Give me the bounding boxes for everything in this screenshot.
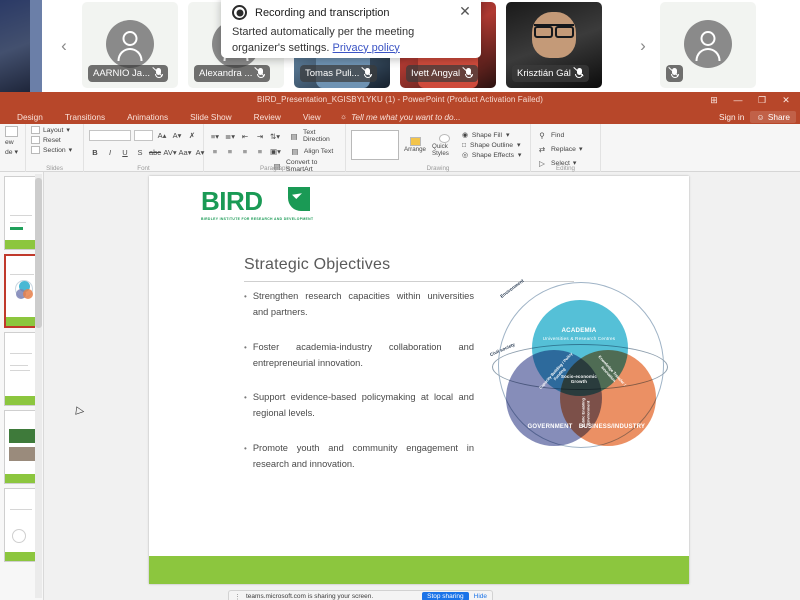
window-controls: ⊞ — ❐ ✕ — [702, 93, 798, 108]
logo-tagline: BIRDLEY INSTITUTE FOR RESEARCH AND DEVEL… — [201, 217, 313, 221]
privacy-policy-link[interactable]: Privacy policy — [333, 42, 400, 54]
ribbon-display-options-button[interactable]: ⊞ — [702, 93, 726, 108]
ribbon-group-slides: Layout▾ Reset Section▾ Slides — [26, 124, 84, 172]
increase-font-size-button[interactable]: A▴ — [156, 129, 168, 141]
avatar — [106, 20, 154, 68]
window-title: BIRD_Presentation_KGISBYLYKU (1) - Power… — [0, 95, 800, 104]
bullets-button[interactable]: ≡▾ — [209, 130, 221, 142]
align-text-button[interactable]: ▤ — [289, 145, 301, 157]
participant-name-chip: Alexandra ... — [194, 65, 270, 82]
bullet-item: • Strengthen research capacities within … — [244, 288, 474, 321]
socio-economic-growth-label: Socio-economic Growth — [558, 374, 600, 385]
screen-root: ‹ › AARNIO Ja... Alexandra ... Tomas Pul… — [0, 0, 800, 600]
academia-label: ACADEMIA Universities & Research Centres — [539, 327, 619, 341]
participant-name-chip — [666, 65, 683, 82]
stop-sharing-button[interactable]: Stop sharing — [422, 592, 469, 600]
title-bar: BIRD_Presentation_KGISBYLYKU (1) - Power… — [0, 92, 800, 109]
sign-in-button[interactable]: Sign in — [719, 112, 744, 122]
search-icon: ⚲ — [536, 129, 548, 141]
shape-outline-button[interactable]: □ Shape Outline ▾ — [462, 141, 521, 149]
bullet-text: Foster academia-industry collaboration a… — [253, 339, 474, 372]
participants-next-button[interactable]: › — [634, 26, 652, 66]
teams-participant-strip: ‹ › AARNIO Ja... Alexandra ... Tomas Pul… — [0, 0, 800, 92]
group-label-paragraph: Paragraph — [204, 165, 345, 172]
participant-name-chip: Tomas Puli... — [300, 65, 377, 82]
overlap-bottom-label: Public Enabling Environment — [581, 390, 590, 436]
bullet-icon: • — [244, 339, 247, 372]
ribbon-tab-bar: Design Transitions Animations Slide Show… — [0, 109, 800, 124]
participant-name-chip: Ivett Angyal — [406, 65, 478, 82]
text-direction-button[interactable]: ▤ — [288, 130, 300, 142]
bullet-icon: • — [244, 389, 247, 422]
bullet-item: • Support evidence-based policymaking at… — [244, 389, 474, 422]
font-family-select[interactable] — [89, 130, 131, 141]
justify-button[interactable]: ≡ — [254, 145, 266, 157]
group-label-font: Font — [84, 165, 203, 172]
participant-name: Alexandra ... — [199, 68, 252, 79]
hide-button[interactable]: Hide — [474, 593, 487, 600]
align-left-button[interactable]: ≡ — [209, 145, 221, 157]
tab-slide-show[interactable]: Slide Show — [179, 112, 243, 122]
record-icon — [232, 5, 247, 20]
participant-name: AARNIO Ja... — [93, 68, 150, 79]
bullet-item: • Promote youth and community engagement… — [244, 440, 474, 473]
tab-view[interactable]: View — [292, 112, 332, 122]
group-label-drawing: Drawing — [346, 165, 530, 172]
teams-self-video — [0, 0, 42, 92]
current-slide[interactable]: BIRD BIRDLEY INSTITUTE FOR RESEARCH AND … — [149, 176, 689, 584]
mic-muted-icon — [575, 68, 584, 79]
person-icon: ☺ — [756, 112, 764, 122]
shadow-button[interactable]: S — [134, 146, 146, 158]
bullet-icon: • — [244, 288, 247, 321]
bullet-text: Support evidence-based policymaking at l… — [253, 389, 474, 422]
slide-thumbnail-4[interactable] — [4, 410, 39, 484]
participant-name-chip: AARNIO Ja... — [88, 65, 168, 82]
section-button[interactable]: Section — [43, 147, 66, 154]
group-label-editing: Editing — [531, 165, 600, 172]
numbering-button[interactable]: ≣▾ — [224, 130, 236, 142]
share-button[interactable]: ☺ Share — [750, 111, 796, 123]
bullet-text: Promote youth and community engagement i… — [253, 440, 474, 473]
tell-me-placeholder: Tell me what you want to do... — [351, 112, 460, 122]
shape-fill-button[interactable]: ◉ Shape Fill ▾ — [462, 131, 521, 139]
mic-muted-icon — [363, 68, 372, 79]
tab-animations[interactable]: Animations — [116, 112, 179, 122]
mic-muted-icon — [256, 68, 265, 79]
line-spacing-button[interactable]: ⇅▾ — [269, 130, 281, 142]
participant-name: Tomas Puli... — [305, 68, 359, 79]
quick-styles-button[interactable]: Quick Styles — [431, 129, 457, 161]
underline-button[interactable]: U — [119, 146, 131, 158]
replace-button[interactable]: Replace — [551, 146, 576, 153]
bullet-icon: • — [244, 440, 247, 473]
quick-styles-label: Quick Styles — [432, 143, 456, 157]
group-label-slides: Slides — [26, 165, 83, 172]
ribbon-group-font: A▴ A▾ ✗ B I U S abc AV▾ Aa▾ A▾ Font — [84, 124, 204, 172]
bird-logo: BIRD BIRDLEY INSTITUTE FOR RESEARCH AND … — [201, 188, 313, 221]
mic-muted-icon — [154, 68, 163, 79]
font-size-select[interactable] — [134, 130, 153, 141]
slides-thumbnail-pane[interactable] — [0, 172, 44, 600]
decrease-indent-button[interactable]: ⇤ — [239, 130, 251, 142]
replace-icon: ⇄ — [536, 143, 548, 155]
avatar — [684, 20, 732, 68]
slide-footer-band — [149, 556, 689, 584]
environment-label: Environment — [499, 278, 524, 299]
close-button[interactable]: ✕ — [774, 93, 798, 108]
drag-handle-icon[interactable]: ⋮ — [234, 593, 241, 600]
slide-bullet-list[interactable]: • Strengthen research capacities within … — [244, 288, 474, 490]
increase-indent-button[interactable]: ⇥ — [254, 130, 266, 142]
ribbon: ew de ▾ Layout▾ Reset Section▾ Slides A▴… — [0, 124, 800, 172]
italic-button[interactable]: I — [104, 146, 116, 158]
slide-thumbnail-1[interactable] — [4, 176, 39, 250]
ribbon-group-paragraph: ≡▾ ≣▾ ⇤ ⇥ ⇅▾ ▤ Text Direction ≡ ≡ ≡ ≡ ▣▾… — [204, 124, 346, 172]
strikethrough-button[interactable]: abc — [149, 146, 161, 158]
mouse-cursor: ▷ — [75, 403, 85, 417]
share-status-text: teams.microsoft.com is sharing your scre… — [246, 593, 417, 600]
shapes-gallery[interactable] — [351, 130, 399, 160]
participant-name: Ivett Angyal — [411, 68, 460, 79]
powerpoint-window: BIRD_Presentation_KGISBYLYKU (1) - Power… — [0, 92, 800, 600]
lightbulb-icon: ☼ — [340, 112, 347, 121]
close-icon[interactable]: ✕ — [458, 5, 472, 19]
slide-title[interactable]: Strategic Objectives — [244, 256, 574, 282]
layout-button[interactable]: Layout — [43, 127, 63, 134]
share-label: Share — [768, 112, 790, 122]
participant-name: Krisztián Gál — [517, 68, 571, 79]
screen-share-bar: ⋮ teams.microsoft.com is sharing your sc… — [228, 590, 493, 600]
arrange-button[interactable]: Arrange — [402, 129, 428, 161]
reset-button[interactable]: Reset — [43, 137, 61, 144]
ribbon-group-drawing: Arrange Quick Styles ◉ Shape Fill ▾ □ Sh… — [346, 124, 531, 172]
restore-button[interactable]: ❐ — [750, 93, 774, 108]
tab-transitions[interactable]: Transitions — [54, 112, 116, 122]
tell-me-search[interactable]: ☼ Tell me what you want to do... — [340, 112, 461, 122]
align-right-button[interactable]: ≡ — [239, 145, 251, 157]
columns-button[interactable]: ▣▾ — [269, 145, 282, 157]
logo-arrow-icon — [288, 187, 310, 211]
tab-design[interactable]: Design — [6, 112, 54, 122]
minimize-button[interactable]: — — [726, 93, 750, 108]
shape-effects-button[interactable]: ◎ Shape Effects ▾ — [462, 151, 521, 159]
participants-prev-button[interactable]: ‹ — [55, 26, 73, 66]
participant-tile[interactable] — [660, 2, 756, 88]
align-text-label[interactable]: Align Text — [304, 148, 333, 155]
mic-muted-icon — [464, 68, 473, 79]
decrease-font-size-button[interactable]: A▾ — [171, 129, 183, 141]
ribbon-group-editing: ⚲Find ⇄Replace▾ ▷Select▾ Editing — [531, 124, 601, 172]
bold-button[interactable]: B — [89, 146, 101, 158]
slide-editing-canvas[interactable]: ▷ BIRD BIRDLEY INSTITUTE FOR RESEARCH AN… — [44, 172, 800, 600]
slides-pane-scrollbar[interactable] — [35, 174, 42, 598]
align-center-button[interactable]: ≡ — [224, 145, 236, 157]
tab-review[interactable]: Review — [243, 112, 292, 122]
bullet-item: • Foster academia-industry collaboration… — [244, 339, 474, 372]
text-direction-label[interactable]: Text Direction — [303, 129, 340, 143]
recording-notification-toast: Recording and transcription ✕ Started au… — [221, 0, 481, 58]
bullet-text: Strengthen research capacities within un… — [253, 288, 474, 321]
clear-formatting-button[interactable]: ✗ — [186, 129, 198, 141]
participant-tile[interactable]: AARNIO Ja... — [82, 2, 178, 88]
ribbon-group-clipboard: ew de ▾ — [0, 124, 26, 172]
mic-muted-icon — [670, 68, 679, 79]
find-button[interactable]: Find — [551, 132, 564, 139]
character-spacing-button[interactable]: AV▾ — [164, 146, 176, 158]
change-case-button[interactable]: Aa▾ — [179, 146, 191, 158]
triple-helix-venn-diagram: ACADEMIA Universities & Research Centres… — [492, 280, 668, 456]
toast-title: Recording and transcription — [255, 7, 390, 19]
slide-thumbnail-2[interactable] — [4, 254, 39, 328]
slide-thumbnail-3[interactable] — [4, 332, 39, 406]
arrange-label: Arrange — [404, 146, 426, 153]
participant-name-chip: Krisztián Gál — [512, 65, 589, 82]
slide-thumbnail-5[interactable] — [4, 488, 39, 562]
participant-tile[interactable]: Krisztián Gál — [506, 2, 602, 88]
